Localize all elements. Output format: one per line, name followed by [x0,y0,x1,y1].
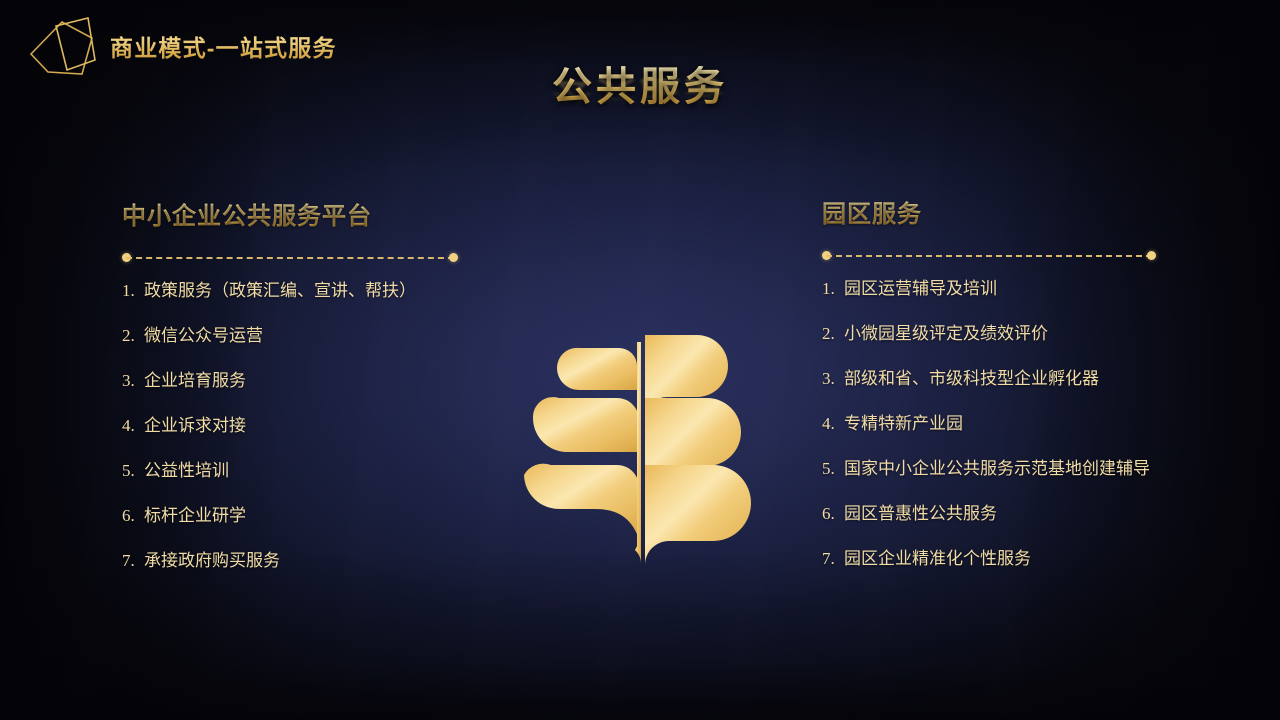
list-item-number: 6. [822,503,844,524]
list-item-label: 园区企业精准化个性服务 [844,548,1031,569]
divider-dot-right-icon [1147,251,1156,260]
list-item: 3. 部级和省、市级科技型企业孵化器 [822,368,1222,413]
list-item: 1. 园区运营辅导及培训 [822,278,1222,323]
list-item: 2. 微信公众号运营 [122,325,542,370]
service-item-list: 1. 政策服务（政策汇编、宣讲、帮扶） 2. 微信公众号运营 3. 企业培育服务… [122,280,542,595]
list-item: 4. 专精特新产业园 [822,413,1222,458]
list-item: 3. 企业培育服务 [122,370,542,415]
divider-dot-right-icon [449,253,458,262]
list-item-number: 7. [822,548,844,569]
list-item-number: 1. [122,280,144,301]
column-sme-public-service-platform: 中小企业公共服务平台 1. 政策服务（政策汇编、宣讲、帮扶） 2. 微信公众号运… [122,196,542,595]
list-item-label: 微信公众号运营 [144,325,263,346]
list-item-label: 承接政府购买服务 [144,550,280,571]
list-item: 1. 政策服务（政策汇编、宣讲、帮扶） [122,280,542,325]
list-item: 5. 国家中小企业公共服务示范基地创建辅导 [822,458,1222,503]
list-item: 7. 承接政府购买服务 [122,550,542,595]
list-item-number: 7. [122,550,144,571]
list-item-label: 标杆企业研学 [144,505,246,526]
list-item-label: 企业诉求对接 [144,415,246,436]
list-item-number: 4. [822,413,844,434]
slide-canvas: 商业模式-一站式服务 公共服务 公共服务 中小企业公共服务平台 1. 政策服务（… [0,0,1280,720]
list-item-number: 2. [822,323,844,344]
list-item-label: 专精特新产业园 [844,413,963,434]
list-item: 7. 园区企业精准化个性服务 [822,548,1222,593]
dotted-divider [122,253,458,262]
list-item-label: 国家中小企业公共服务示范基地创建辅导 [844,458,1150,479]
list-item: 4. 企业诉求对接 [122,415,542,460]
dotted-divider [822,251,1156,260]
list-item-label: 园区运营辅导及培训 [844,278,997,299]
list-item-number: 6. [122,505,144,526]
list-item: 5. 公益性培训 [122,460,542,505]
list-item-label: 企业培育服务 [144,370,246,391]
divider-dash-line [126,257,454,259]
column-heading: 中小企业公共服务平台 [122,196,542,231]
divider-dash-line [826,255,1152,257]
list-item-number: 3. [822,368,844,389]
list-item-number: 2. [122,325,144,346]
main-title-block: 公共服务 公共服务 [0,66,1280,109]
list-item-number: 1. [822,278,844,299]
list-item: 6. 园区普惠性公共服务 [822,503,1222,548]
list-item-label: 园区普惠性公共服务 [844,503,997,524]
list-item: 2. 小微园星级评定及绩效评价 [822,323,1222,368]
list-item-label: 小微园星级评定及绩效评价 [844,323,1048,344]
list-item-label: 公益性培训 [144,460,229,481]
main-title: 公共服务 [552,66,728,109]
list-item: 6. 标杆企业研学 [122,505,542,550]
list-item-number: 5. [122,460,144,481]
golden-tree-emblem-icon [506,332,756,574]
list-item-label: 部级和省、市级科技型企业孵化器 [844,368,1099,389]
service-item-list: 1. 园区运营辅导及培训 2. 小微园星级评定及绩效评价 3. 部级和省、市级科… [822,278,1222,593]
column-heading: 园区服务 [822,194,1222,229]
page-title: 商业模式-一站式服务 [110,29,337,63]
list-item-number: 3. [122,370,144,391]
list-item-label: 政策服务（政策汇编、宣讲、帮扶） [144,280,416,301]
list-item-number: 5. [822,458,844,479]
column-park-service: 园区服务 1. 园区运营辅导及培训 2. 小微园星级评定及绩效评价 3. 部级和… [822,194,1222,593]
list-item-number: 4. [122,415,144,436]
